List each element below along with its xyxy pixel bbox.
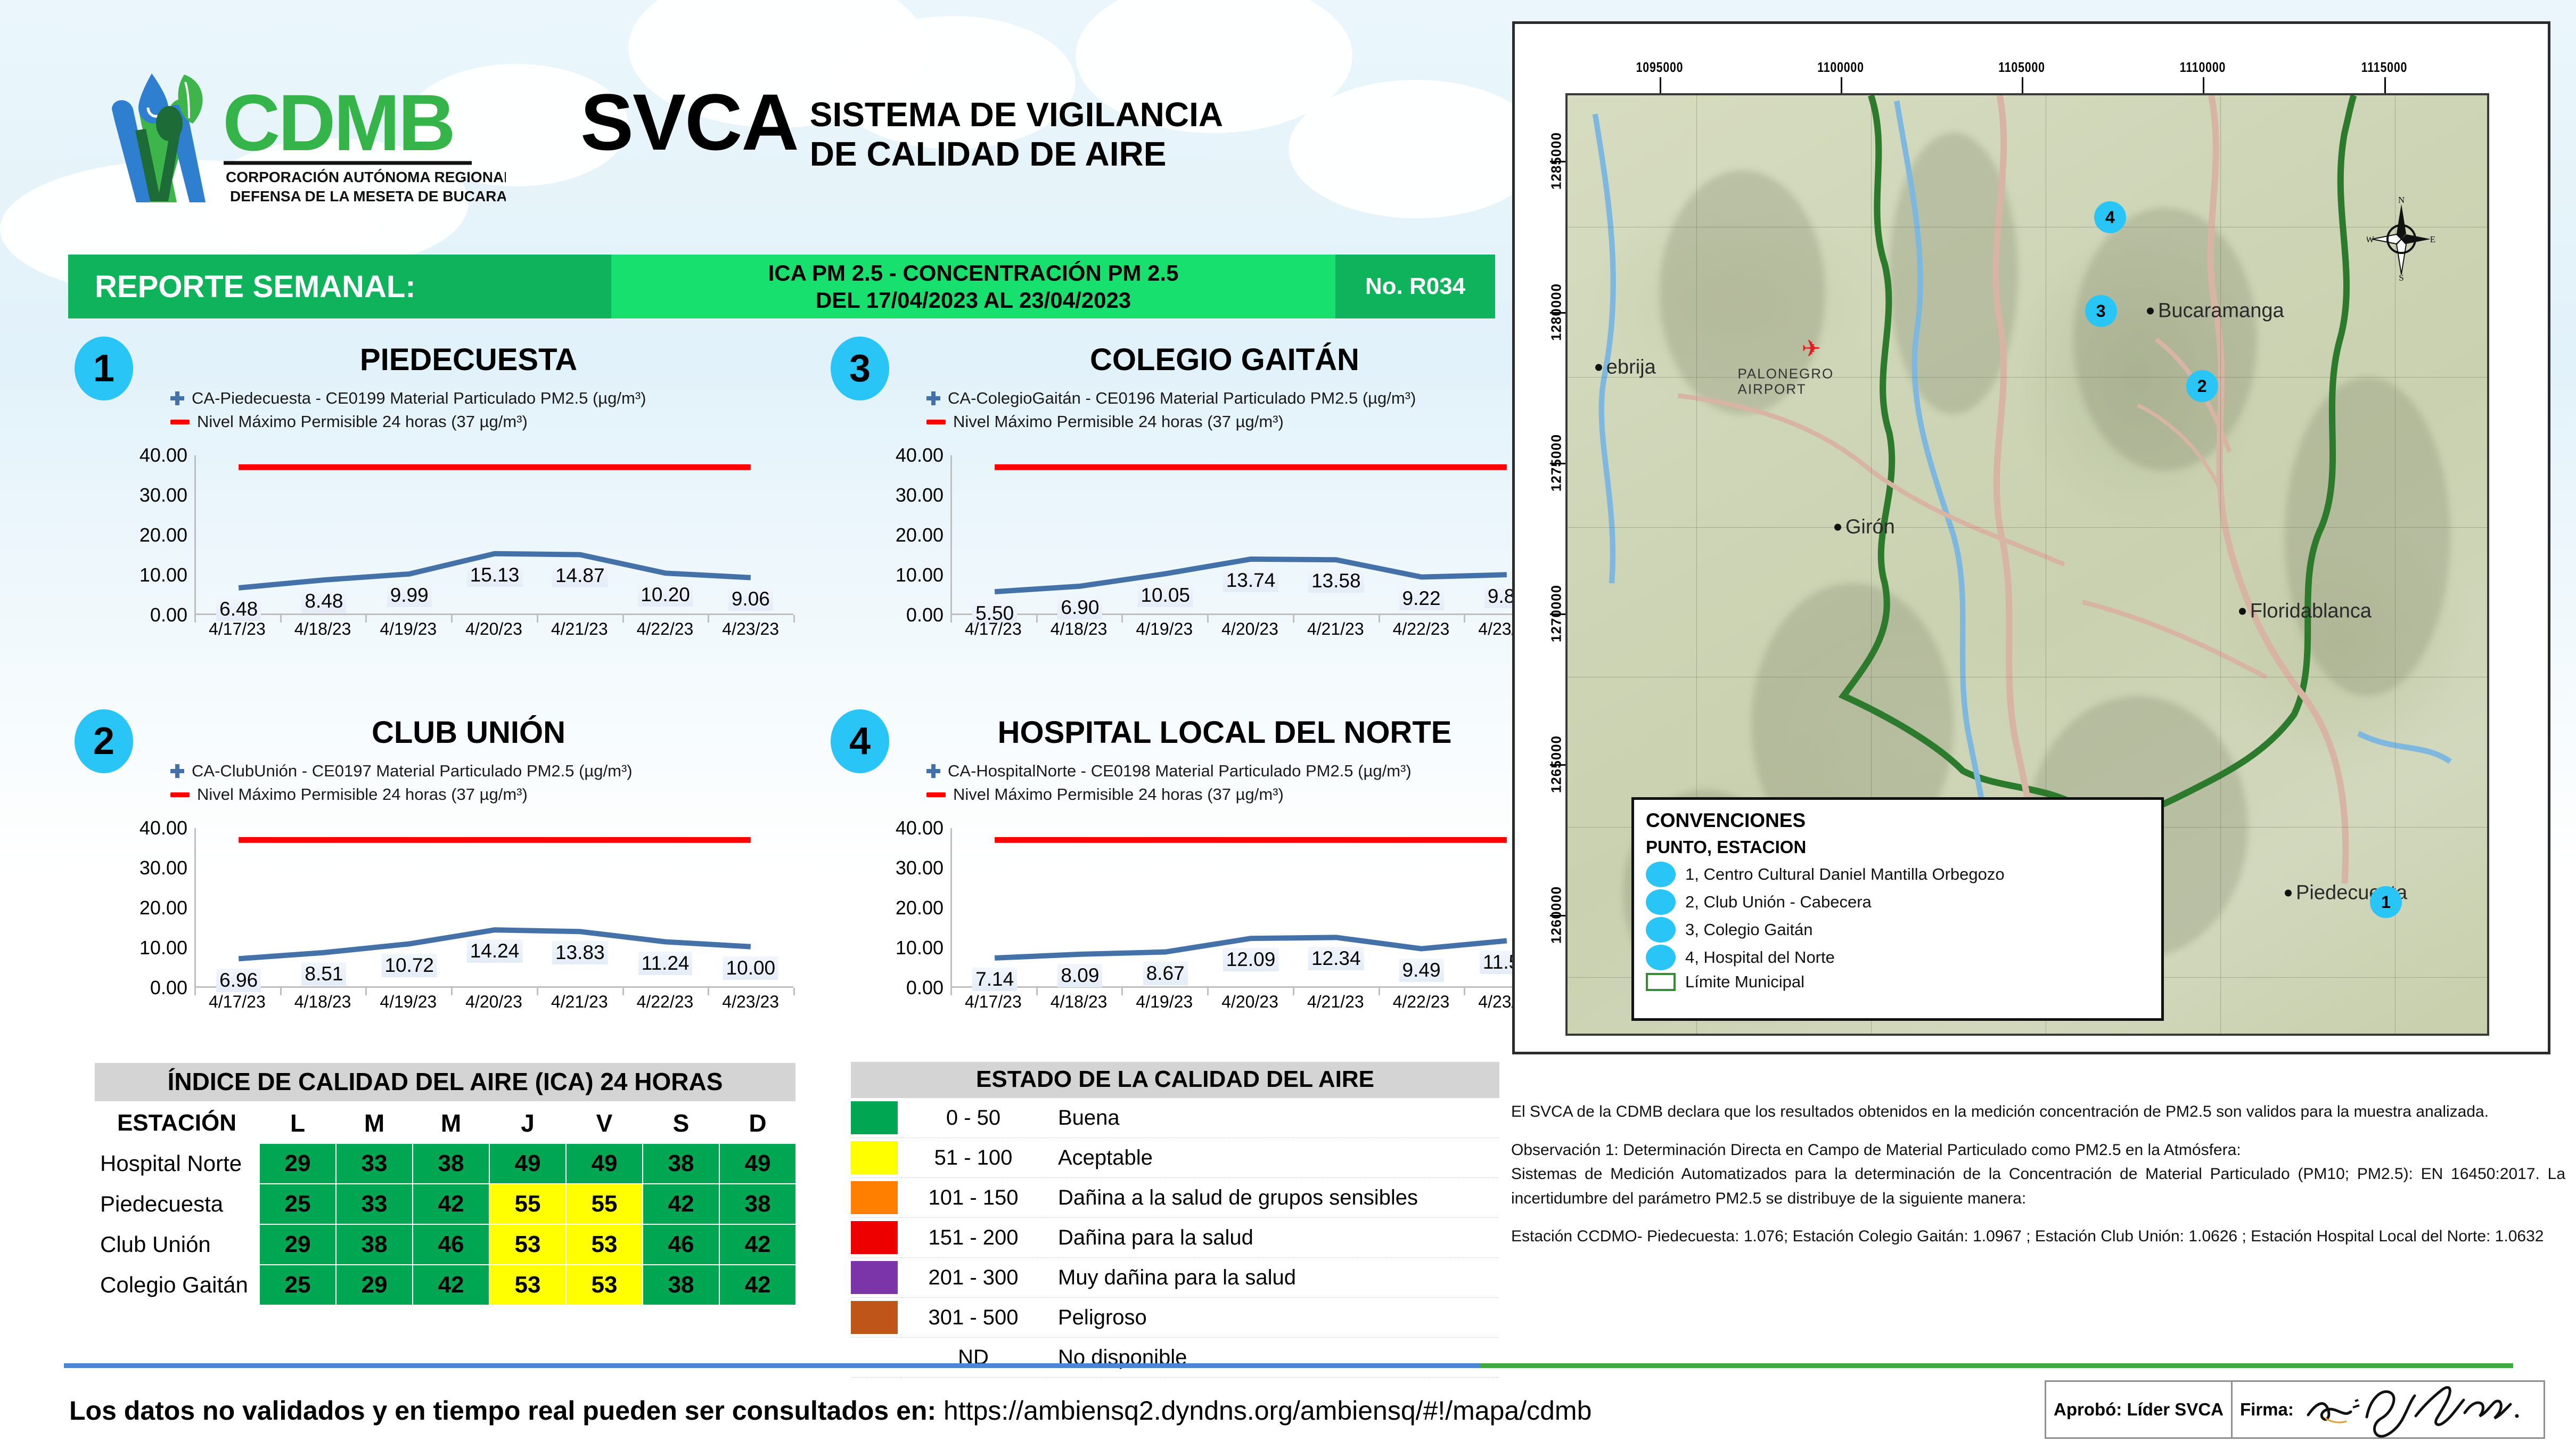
data-point-label: 14.87 <box>552 564 608 587</box>
compass-rose-icon: N S W E <box>2367 197 2436 282</box>
legend-color-swatch <box>851 1181 898 1214</box>
municipal-boundary-icon <box>1646 973 1676 991</box>
legend-swatch-cell <box>851 1298 901 1338</box>
legend-color-swatch <box>851 1261 898 1294</box>
x-tick-label: 4/17/23 <box>950 619 1036 639</box>
legend-threshold-label: Nivel Máximo Permisible 24 horas (37 µg/… <box>953 785 1284 804</box>
plot-area-colegio-gait-n: 5.506.9010.0513.7413.589.229.80 <box>950 455 1549 615</box>
ica-value-cell: 33 <box>336 1143 413 1184</box>
x-tick-label: 4/18/23 <box>280 619 366 639</box>
banner-subject-line2: DEL 17/04/2023 AL 23/04/2023 <box>816 286 1131 314</box>
city-dot-icon <box>2285 889 2292 896</box>
convenciones-subtitle: PUNTO, ESTACION <box>1646 837 2150 857</box>
chart-svg-piedecuesta <box>196 455 793 613</box>
ica-value-cell: 53 <box>566 1224 643 1265</box>
convenciones-item-label: 2, Club Unión - Cabecera <box>1685 893 1872 912</box>
x-tick-label: 4/17/23 <box>194 619 280 639</box>
ica-value-cell: 25 <box>259 1265 336 1305</box>
ica-table: ÍNDICE DE CALIDAD DEL AIRE (ICA) 24 HORA… <box>94 1062 797 1306</box>
legend-color-swatch <box>851 1141 898 1174</box>
list-item: 101 - 150Dañina a la salud de grupos sen… <box>851 1178 1499 1218</box>
logo-subtitle-line1: CORPORACIÓN AUTÓNOMA REGIONAL PARA LA <box>226 169 506 185</box>
y-tick-label: 10.00 <box>896 937 944 959</box>
legend-swatch-cell <box>851 1178 901 1218</box>
legend-description: Peligroso <box>1045 1298 1499 1338</box>
threshold-line-icon <box>926 792 946 797</box>
chart-legend-piedecuesta: CA-Piedecuesta - CE0199 Material Particu… <box>170 389 646 436</box>
data-point-label: 12.34 <box>1308 947 1364 970</box>
ica-column-header: L <box>259 1103 336 1143</box>
legend-range: 201 - 300 <box>901 1258 1045 1298</box>
data-point-label: 10.72 <box>381 954 437 977</box>
list-item: 151 - 200Dañina para la salud <box>851 1218 1499 1258</box>
city-name: ebrija <box>1606 356 1656 379</box>
ica-value-cell: 42 <box>719 1224 796 1265</box>
ica-column-header: V <box>566 1103 643 1143</box>
legend-color-swatch <box>851 1301 898 1334</box>
y-tick-label: 40.00 <box>896 817 944 839</box>
legend-series-row: CA-ColegioGaitán - CE0196 Material Parti… <box>926 389 1416 408</box>
signature-field: Firma: <box>2233 1382 2544 1437</box>
convenciones-item: 1, Centro Cultural Daniel Mantilla Orbeg… <box>1646 862 2150 887</box>
ica-value-cell: 25 <box>259 1184 336 1224</box>
list-item: 201 - 300Muy dañina para la salud <box>851 1258 1499 1298</box>
chart-plot-club-uni-n: 0.0010.0020.0030.0040.006.968.5110.7214.… <box>106 828 799 1036</box>
ica-table-body: Hospital Norte29333849493849Piedecuesta2… <box>94 1143 796 1305</box>
ica-value-cell: 49 <box>489 1143 566 1184</box>
data-point-label: 10.00 <box>723 956 779 980</box>
y-tick-label: 40.00 <box>896 444 944 466</box>
station-dot-icon <box>1646 945 1676 970</box>
svca-acronym: SVCA <box>580 85 798 159</box>
x-tick-label: 4/20/23 <box>1207 992 1293 1012</box>
legend-threshold-label: Nivel Máximo Permisible 24 horas (37 µg/… <box>197 412 528 431</box>
map-x-coordinate: 1095000 <box>1636 59 1684 76</box>
signature-label: Firma: <box>2240 1399 2294 1420</box>
data-point-label: 8.51 <box>301 962 346 986</box>
air-quality-legend-grid: 0 - 50Buena51 - 100Aceptable101 - 150Dañ… <box>851 1098 1499 1378</box>
map-x-tick <box>1841 77 1842 93</box>
svg-text:N: N <box>2398 197 2405 205</box>
chart-panel-club-union: 2CLUB UNIÓNCA-ClubUnión - CE0197 Materia… <box>64 703 815 1044</box>
list-item: NDNo disponible <box>851 1338 1499 1378</box>
ica-table-title: ÍNDICE DE CALIDAD DEL AIRE (ICA) 24 HORA… <box>94 1062 797 1102</box>
ica-value-cell: 38 <box>643 1143 719 1184</box>
legend-swatch-cell <box>851 1138 901 1178</box>
svca-subtitle: SISTEMA DE VIGILANCIA DE CALIDAD DE AIRE <box>810 85 1223 174</box>
banner-report-number: No. R034 <box>1335 255 1495 318</box>
chart-title-club-uni-n: CLUB UNIÓN <box>154 715 783 750</box>
legend-series-label: CA-ColegioGaitán - CE0196 Material Parti… <box>948 389 1416 408</box>
svca-title-block: SVCA SISTEMA DE VIGILANCIA DE CALIDAD DE… <box>580 85 1223 174</box>
station-badge-2: 2 <box>75 709 133 773</box>
y-tick-label: 40.00 <box>140 444 187 466</box>
ica-value-cell: 53 <box>566 1265 643 1305</box>
ica-value-cell: 49 <box>566 1143 643 1184</box>
station-location-map[interactable]: 1095000110000011050001110000111500012850… <box>1512 21 2550 1054</box>
y-axis-hospital-local-del-norte: 0.0010.0020.0030.0040.00 <box>863 828 948 988</box>
map-x-tick <box>2384 77 2386 93</box>
footer-rule-blue <box>64 1363 1480 1368</box>
list-item: 51 - 100Aceptable <box>851 1138 1499 1178</box>
plot-area-piedecuesta: 6.488.489.9915.1314.8710.209.06 <box>194 455 793 615</box>
banner-subject-line1: ICA PM 2.5 - CONCENTRACIÓN PM 2.5 <box>768 259 1179 286</box>
data-point-label: 10.20 <box>637 583 693 607</box>
cdmb-logo: CDMB CORPORACIÓN AUTÓNOMA REGIONAL PARA … <box>80 59 506 213</box>
legend-threshold-row: Nivel Máximo Permisible 24 horas (37 µg/… <box>170 412 646 431</box>
ica-column-header: M <box>336 1103 413 1143</box>
chart-legend-club-uni-n: CA-ClubUnión - CE0197 Material Particula… <box>170 762 633 808</box>
chart-plot-piedecuesta: 0.0010.0020.0030.0040.006.488.489.9915.1… <box>106 455 799 663</box>
ica-column-header: D <box>719 1103 796 1143</box>
x-tick-label: 4/20/23 <box>451 992 537 1012</box>
approved-by-label: Aprobó: Líder SVCA <box>2046 1382 2233 1437</box>
ica-column-header: M <box>413 1103 489 1143</box>
map-x-coordinate: 1100000 <box>1817 59 1864 76</box>
legend-range: 0 - 50 <box>901 1098 1045 1138</box>
legend-range: ND <box>901 1338 1045 1378</box>
legend-series-label: CA-Piedecuesta - CE0199 Material Particu… <box>192 389 646 408</box>
data-point-label: 9.22 <box>1399 587 1444 610</box>
footer-rule-green <box>1480 1363 2513 1368</box>
y-tick-label: 30.00 <box>896 857 944 879</box>
convenciones-item-label: 1, Centro Cultural Daniel Mantilla Orbeg… <box>1685 865 2005 884</box>
ica-value-cell: 53 <box>489 1265 566 1305</box>
convenciones-item: 3, Colegio Gaitán <box>1646 917 2150 943</box>
map-x-coordinate: 1110000 <box>2180 59 2226 76</box>
map-legend-convenciones: CONVENCIONES PUNTO, ESTACION 1, Centro C… <box>1631 797 2164 1021</box>
chart-panel-hospital-norte: 4HOSPITAL LOCAL DEL NORTECA-HospitalNort… <box>820 703 1571 1044</box>
station-dot-icon <box>1646 917 1676 943</box>
data-point-label: 9.06 <box>728 587 773 611</box>
map-y-tick <box>1550 613 1566 615</box>
convenciones-item-label: 4, Hospital del Norte <box>1685 948 1835 967</box>
ica-column-header: S <box>643 1103 719 1143</box>
ica-value-cell: 55 <box>489 1184 566 1224</box>
chart-legend-colegio-gait-n: CA-ColegioGaitán - CE0196 Material Parti… <box>926 389 1416 436</box>
map-label-floridablanca: Floridablanca <box>2239 600 2372 623</box>
map-label-palonegro-airport: PALONEGROAIRPORT <box>1737 366 1834 397</box>
svg-text:E: E <box>2430 234 2435 244</box>
chart-panel-colegio-gaitan: 3COLEGIO GAITÁNCA-ColegioGaitán - CE0196… <box>820 330 1571 671</box>
threshold-line-icon <box>170 792 190 797</box>
chart-panel-piedecuesta: 1PIEDECUESTACA-Piedecuesta - CE0199 Mate… <box>64 330 815 671</box>
legend-swatch-cell <box>851 1218 901 1258</box>
legend-series-label: CA-HospitalNorte - CE0198 Material Parti… <box>948 762 1412 781</box>
map-x-coordinate: 1105000 <box>1998 59 2045 76</box>
series-marker-icon <box>926 391 940 405</box>
convenciones-item: 2, Club Unión - Cabecera <box>1646 889 2150 915</box>
map-y-tick <box>1550 161 1566 162</box>
svg-text:CDMB: CDMB <box>223 78 454 167</box>
ica-value-cell: 53 <box>489 1224 566 1265</box>
series-marker-icon <box>926 764 940 778</box>
legend-range: 51 - 100 <box>901 1138 1045 1178</box>
data-point-label: 13.58 <box>1308 569 1364 593</box>
table-row: Piedecuesta25334255554238 <box>94 1184 796 1224</box>
plot-area-club-uni-n: 6.968.5110.7214.2413.8311.2410.00 <box>194 828 793 988</box>
map-label-girón: Girón <box>1834 515 1895 538</box>
x-axis-labels-hospital-local-del-norte: 4/17/234/18/234/19/234/20/234/21/234/22/… <box>950 992 1549 1012</box>
y-tick-label: 30.00 <box>140 857 187 879</box>
x-tick-label: 4/22/23 <box>1379 992 1464 1012</box>
x-tick-label: 4/22/23 <box>622 619 708 639</box>
map-station-pin-4[interactable]: 4 <box>2094 201 2126 233</box>
svg-text:W: W <box>2367 234 2375 244</box>
list-item: 0 - 50Buena <box>851 1098 1499 1138</box>
ica-column-header: ESTACIÓN <box>94 1103 259 1143</box>
station-badge-3: 3 <box>831 337 889 400</box>
ica-value-cell: 33 <box>336 1184 413 1224</box>
city-name: Bucaramanga <box>2158 300 2284 323</box>
legend-threshold-label: Nivel Máximo Permisible 24 horas (37 µg/… <box>197 785 528 804</box>
ica-value-cell: 38 <box>413 1143 489 1184</box>
svca-subtitle-line1: SISTEMA DE VIGILANCIA <box>810 95 1223 134</box>
y-tick-label: 20.00 <box>140 524 187 546</box>
data-point-label: 9.99 <box>387 584 432 607</box>
legend-swatch-cell <box>851 1338 901 1378</box>
ica-column-header: J <box>489 1103 566 1143</box>
air-quality-legend: ESTADO DE LA CALIDAD DEL AIRE 0 - 50Buen… <box>851 1062 1499 1378</box>
data-point-label: 11.24 <box>638 952 693 975</box>
x-axis-labels-piedecuesta: 4/17/234/18/234/19/234/20/234/21/234/22/… <box>194 619 793 639</box>
ica-station-name: Club Unión <box>94 1224 259 1265</box>
legend-threshold-row: Nivel Máximo Permisible 24 horas (37 µg/… <box>926 412 1416 431</box>
legend-color-swatch <box>851 1221 898 1254</box>
map-x-tick <box>2203 77 2204 93</box>
map-label-bucaramanga: Bucaramanga <box>2147 300 2284 323</box>
ica-value-cell: 29 <box>259 1224 336 1265</box>
ica-table-grid: ESTACIÓNLMMJVSD Hospital Norte2933384949… <box>94 1102 797 1306</box>
x-tick-label: 4/20/23 <box>1207 619 1293 639</box>
ica-value-cell: 46 <box>643 1224 719 1265</box>
x-tick-label: 4/21/23 <box>537 992 622 1012</box>
page-header: CDMB CORPORACIÓN AUTÓNOMA REGIONAL PARA … <box>0 0 1491 234</box>
y-tick-label: 20.00 <box>896 524 944 546</box>
x-tick-label: 4/18/23 <box>280 992 366 1012</box>
x-tick-label: 4/20/23 <box>451 619 537 639</box>
station-dot-icon <box>1646 862 1676 887</box>
data-point-label: 14.24 <box>467 939 523 963</box>
legend-description: Aceptable <box>1045 1138 1499 1178</box>
x-axis-labels-club-uni-n: 4/17/234/18/234/19/234/20/234/21/234/22/… <box>194 992 793 1012</box>
y-tick-label: 0.00 <box>906 604 944 626</box>
map-x-coordinate: 1115000 <box>2361 59 2407 76</box>
legend-description: Muy dañina para la salud <box>1045 1258 1499 1298</box>
legend-range: 101 - 150 <box>901 1178 1045 1218</box>
legend-series-label: CA-ClubUnión - CE0197 Material Particula… <box>192 762 633 781</box>
svg-text:S: S <box>2399 273 2403 282</box>
y-tick-label: 30.00 <box>140 484 187 506</box>
y-tick-label: 40.00 <box>140 817 187 839</box>
legend-swatch-cell <box>851 1258 901 1298</box>
chart-title-hospital-local-del-norte: HOSPITAL LOCAL DEL NORTE <box>910 715 1539 750</box>
y-tick-label: 0.00 <box>906 977 944 999</box>
ica-value-cell: 29 <box>259 1143 336 1184</box>
legend-description: Dañina a la salud de grupos sensibles <box>1045 1178 1499 1218</box>
x-tick-label: 4/17/23 <box>194 992 280 1012</box>
x-tick-label: 4/21/23 <box>1293 619 1379 639</box>
legend-swatch-cell <box>851 1098 901 1138</box>
banner-report-number-text: No. R034 <box>1365 273 1465 300</box>
city-dot-icon <box>2239 608 2246 615</box>
convenciones-boundary-row: Límite Municipal <box>1646 972 2150 992</box>
y-tick-label: 20.00 <box>140 897 187 919</box>
x-tick-label: 4/23/23 <box>708 619 793 639</box>
plot-area-hospital-local-del-norte: 7.148.098.6712.0912.349.4911.50 <box>950 828 1549 988</box>
ica-value-cell: 38 <box>719 1184 796 1224</box>
ica-value-cell: 42 <box>413 1265 489 1305</box>
data-point-label: 8.67 <box>1143 962 1188 985</box>
x-tick-label: 4/18/23 <box>1036 619 1122 639</box>
data-point-label: 8.09 <box>1057 964 1102 987</box>
y-axis-piedecuesta: 0.0010.0020.0030.0040.00 <box>106 455 192 615</box>
chart-plot-hospital-local-del-norte: 0.0010.0020.0030.0040.007.148.098.6712.0… <box>863 828 1555 1036</box>
x-tick-label: 4/18/23 <box>1036 992 1122 1012</box>
ica-value-cell: 49 <box>719 1143 796 1184</box>
x-tick-label: 4/19/23 <box>1121 992 1207 1012</box>
air-quality-legend-body: 0 - 50Buena51 - 100Aceptable101 - 150Dañ… <box>851 1098 1499 1378</box>
table-row: Colegio Gaitán25294253533842 <box>94 1265 796 1305</box>
legend-series-row: CA-Piedecuesta - CE0199 Material Particu… <box>170 389 646 408</box>
list-item: 301 - 500Peligroso <box>851 1298 1499 1338</box>
map-x-tick <box>2022 77 2023 93</box>
ica-value-cell: 46 <box>413 1224 489 1265</box>
footer-lead-text: Los datos no validados y en tiempo real … <box>69 1396 936 1426</box>
note-validity: El SVCA de la CDMB declara que los resul… <box>1511 1100 2565 1124</box>
logo-subtitle-line2: DEFENSA DE LA MESETA DE BUCARAMANGA <box>230 188 506 204</box>
legend-range: 301 - 500 <box>901 1298 1045 1338</box>
svca-subtitle-line2: DE CALIDAD DE AIRE <box>810 134 1223 174</box>
x-tick-label: 4/19/23 <box>365 992 451 1012</box>
report-banner: REPORTE SEMANAL: ICA PM 2.5 - CONCENTRAC… <box>68 255 1495 318</box>
legend-threshold-row: Nivel Máximo Permisible 24 horas (37 µg/… <box>926 785 1412 804</box>
table-row: Club Unión29384653534642 <box>94 1224 796 1265</box>
ica-station-name: Hospital Norte <box>94 1143 259 1184</box>
map-canvas[interactable]: ✈ PALONEGROAIRPORT BucaramangaGirónFlori… <box>1565 93 2489 1036</box>
air-quality-legend-title: ESTADO DE LA CALIDAD DEL AIRE <box>851 1062 1499 1098</box>
convenciones-boundary-label: Límite Municipal <box>1685 972 1804 992</box>
map-y-tick <box>1550 764 1566 766</box>
convenciones-title: CONVENCIONES <box>1646 809 2150 832</box>
station-dot-icon <box>1646 889 1676 915</box>
y-tick-label: 10.00 <box>140 937 187 959</box>
y-axis-colegio-gait-n: 0.0010.0020.0030.0040.00 <box>863 455 948 615</box>
data-point-label: 10.05 <box>1137 584 1193 607</box>
convenciones-item: 4, Hospital del Norte <box>1646 945 2150 970</box>
map-y-tick <box>1550 312 1566 314</box>
x-axis-labels-colegio-gait-n: 4/17/234/18/234/19/234/20/234/21/234/22/… <box>950 619 1549 639</box>
convenciones-item-label: 3, Colegio Gaitán <box>1685 920 1813 939</box>
ica-value-cell: 42 <box>643 1184 719 1224</box>
data-point-label: 15.13 <box>467 563 523 587</box>
map-station-pin-2[interactable]: 2 <box>2186 370 2218 402</box>
chart-title-colegio-gait-n: COLEGIO GAITÁN <box>910 342 1539 378</box>
station-badge-4: 4 <box>831 709 889 773</box>
banner-report-label-text: REPORTE SEMANAL: <box>95 269 416 305</box>
convenciones-items: 1, Centro Cultural Daniel Mantilla Orbeg… <box>1646 862 2150 970</box>
chart-legend-hospital-local-del-norte: CA-HospitalNorte - CE0198 Material Parti… <box>926 762 1412 808</box>
y-tick-label: 0.00 <box>150 604 187 626</box>
note-observation-title: Observación 1: Determinación Directa en … <box>1511 1138 2565 1163</box>
data-point-label: 12.09 <box>1223 948 1279 971</box>
station-badge-1: 1 <box>75 337 133 400</box>
x-tick-label: 4/17/23 <box>950 992 1036 1012</box>
ica-value-cell: 38 <box>336 1224 413 1265</box>
banner-report-subject: ICA PM 2.5 - CONCENTRACIÓN PM 2.5 DEL 17… <box>611 255 1335 318</box>
y-tick-label: 0.00 <box>150 977 187 999</box>
ica-station-name: Piedecuesta <box>94 1184 259 1224</box>
x-tick-label: 4/21/23 <box>1293 992 1379 1012</box>
x-tick-label: 4/19/23 <box>365 619 451 639</box>
legend-threshold-row: Nivel Máximo Permisible 24 horas (37 µg/… <box>170 785 633 804</box>
footer-rule <box>64 1363 2513 1368</box>
report-notes: El SVCA de la CDMB declara que los resul… <box>1511 1100 2565 1249</box>
city-dot-icon <box>1834 523 1841 530</box>
ica-value-cell: 38 <box>643 1265 719 1305</box>
y-axis-club-uni-n: 0.0010.0020.0030.0040.00 <box>106 828 192 988</box>
footer-url[interactable]: https://ambiensq2.dyndns.org/ambiensq/#!… <box>944 1396 1591 1426</box>
map-x-tick <box>1660 77 1661 93</box>
legend-series-row: CA-ClubUnión - CE0197 Material Particula… <box>170 762 633 781</box>
ica-value-cell: 55 <box>566 1184 643 1224</box>
ica-value-cell: 42 <box>413 1184 489 1224</box>
city-name: Girón <box>1845 515 1895 538</box>
y-tick-label: 30.00 <box>896 484 944 506</box>
data-point-label: 8.48 <box>301 590 346 613</box>
series-marker-icon <box>170 391 184 405</box>
x-tick-label: 4/22/23 <box>622 992 708 1012</box>
data-point-label: 13.74 <box>1223 569 1279 592</box>
ica-value-cell: 42 <box>719 1265 796 1305</box>
legend-description: Dañina para la salud <box>1045 1218 1499 1258</box>
note-observation-body: Sistemas de Medición Automatizados para … <box>1511 1162 2565 1210</box>
legend-description: Buena <box>1045 1098 1499 1138</box>
signature-mark <box>2302 1380 2552 1438</box>
y-tick-label: 20.00 <box>896 897 944 919</box>
series-marker-icon <box>170 764 184 778</box>
threshold-line-icon <box>170 420 190 424</box>
map-station-pin-1[interactable]: 1 <box>2370 886 2402 918</box>
legend-series-row: CA-HospitalNorte - CE0198 Material Parti… <box>926 762 1412 781</box>
legend-description: No disponible <box>1045 1338 1499 1378</box>
y-tick-label: 10.00 <box>896 564 944 586</box>
city-dot-icon <box>2147 308 2154 315</box>
x-tick-label: 4/19/23 <box>1121 619 1207 639</box>
y-tick-label: 10.00 <box>140 564 187 586</box>
legend-threshold-label: Nivel Máximo Permisible 24 horas (37 µg/… <box>953 412 1284 431</box>
ica-station-name: Colegio Gaitán <box>94 1265 259 1305</box>
note-uncertainty: Estación CCDMO- Piedecuesta: 1.076; Esta… <box>1511 1224 2565 1249</box>
x-tick-label: 4/21/23 <box>537 619 622 639</box>
map-y-tick <box>1550 915 1566 916</box>
legend-range: 151 - 200 <box>901 1218 1045 1258</box>
x-tick-label: 4/22/23 <box>1379 619 1464 639</box>
table-row: Hospital Norte29333849493849 <box>94 1143 796 1184</box>
airport-icon: ✈ <box>1801 335 1821 362</box>
approval-signature-box: Aprobó: Líder SVCA Firma: <box>2045 1380 2545 1439</box>
chart-plot-colegio-gait-n: 0.0010.0020.0030.0040.005.506.9010.0513.… <box>863 455 1555 663</box>
banner-report-label: REPORTE SEMANAL: <box>68 255 611 318</box>
footer-text: Los datos no validados y en tiempo real … <box>69 1395 2039 1426</box>
city-name: Floridablanca <box>2250 600 2372 623</box>
map-y-tick <box>1550 463 1566 464</box>
data-point-label: 13.83 <box>552 941 608 964</box>
map-station-pin-3[interactable]: 3 <box>2085 295 2117 327</box>
map-label-ebrija: ebrija <box>1595 356 1656 379</box>
ica-value-cell: 29 <box>336 1265 413 1305</box>
chart-title-piedecuesta: PIEDECUESTA <box>154 342 783 378</box>
